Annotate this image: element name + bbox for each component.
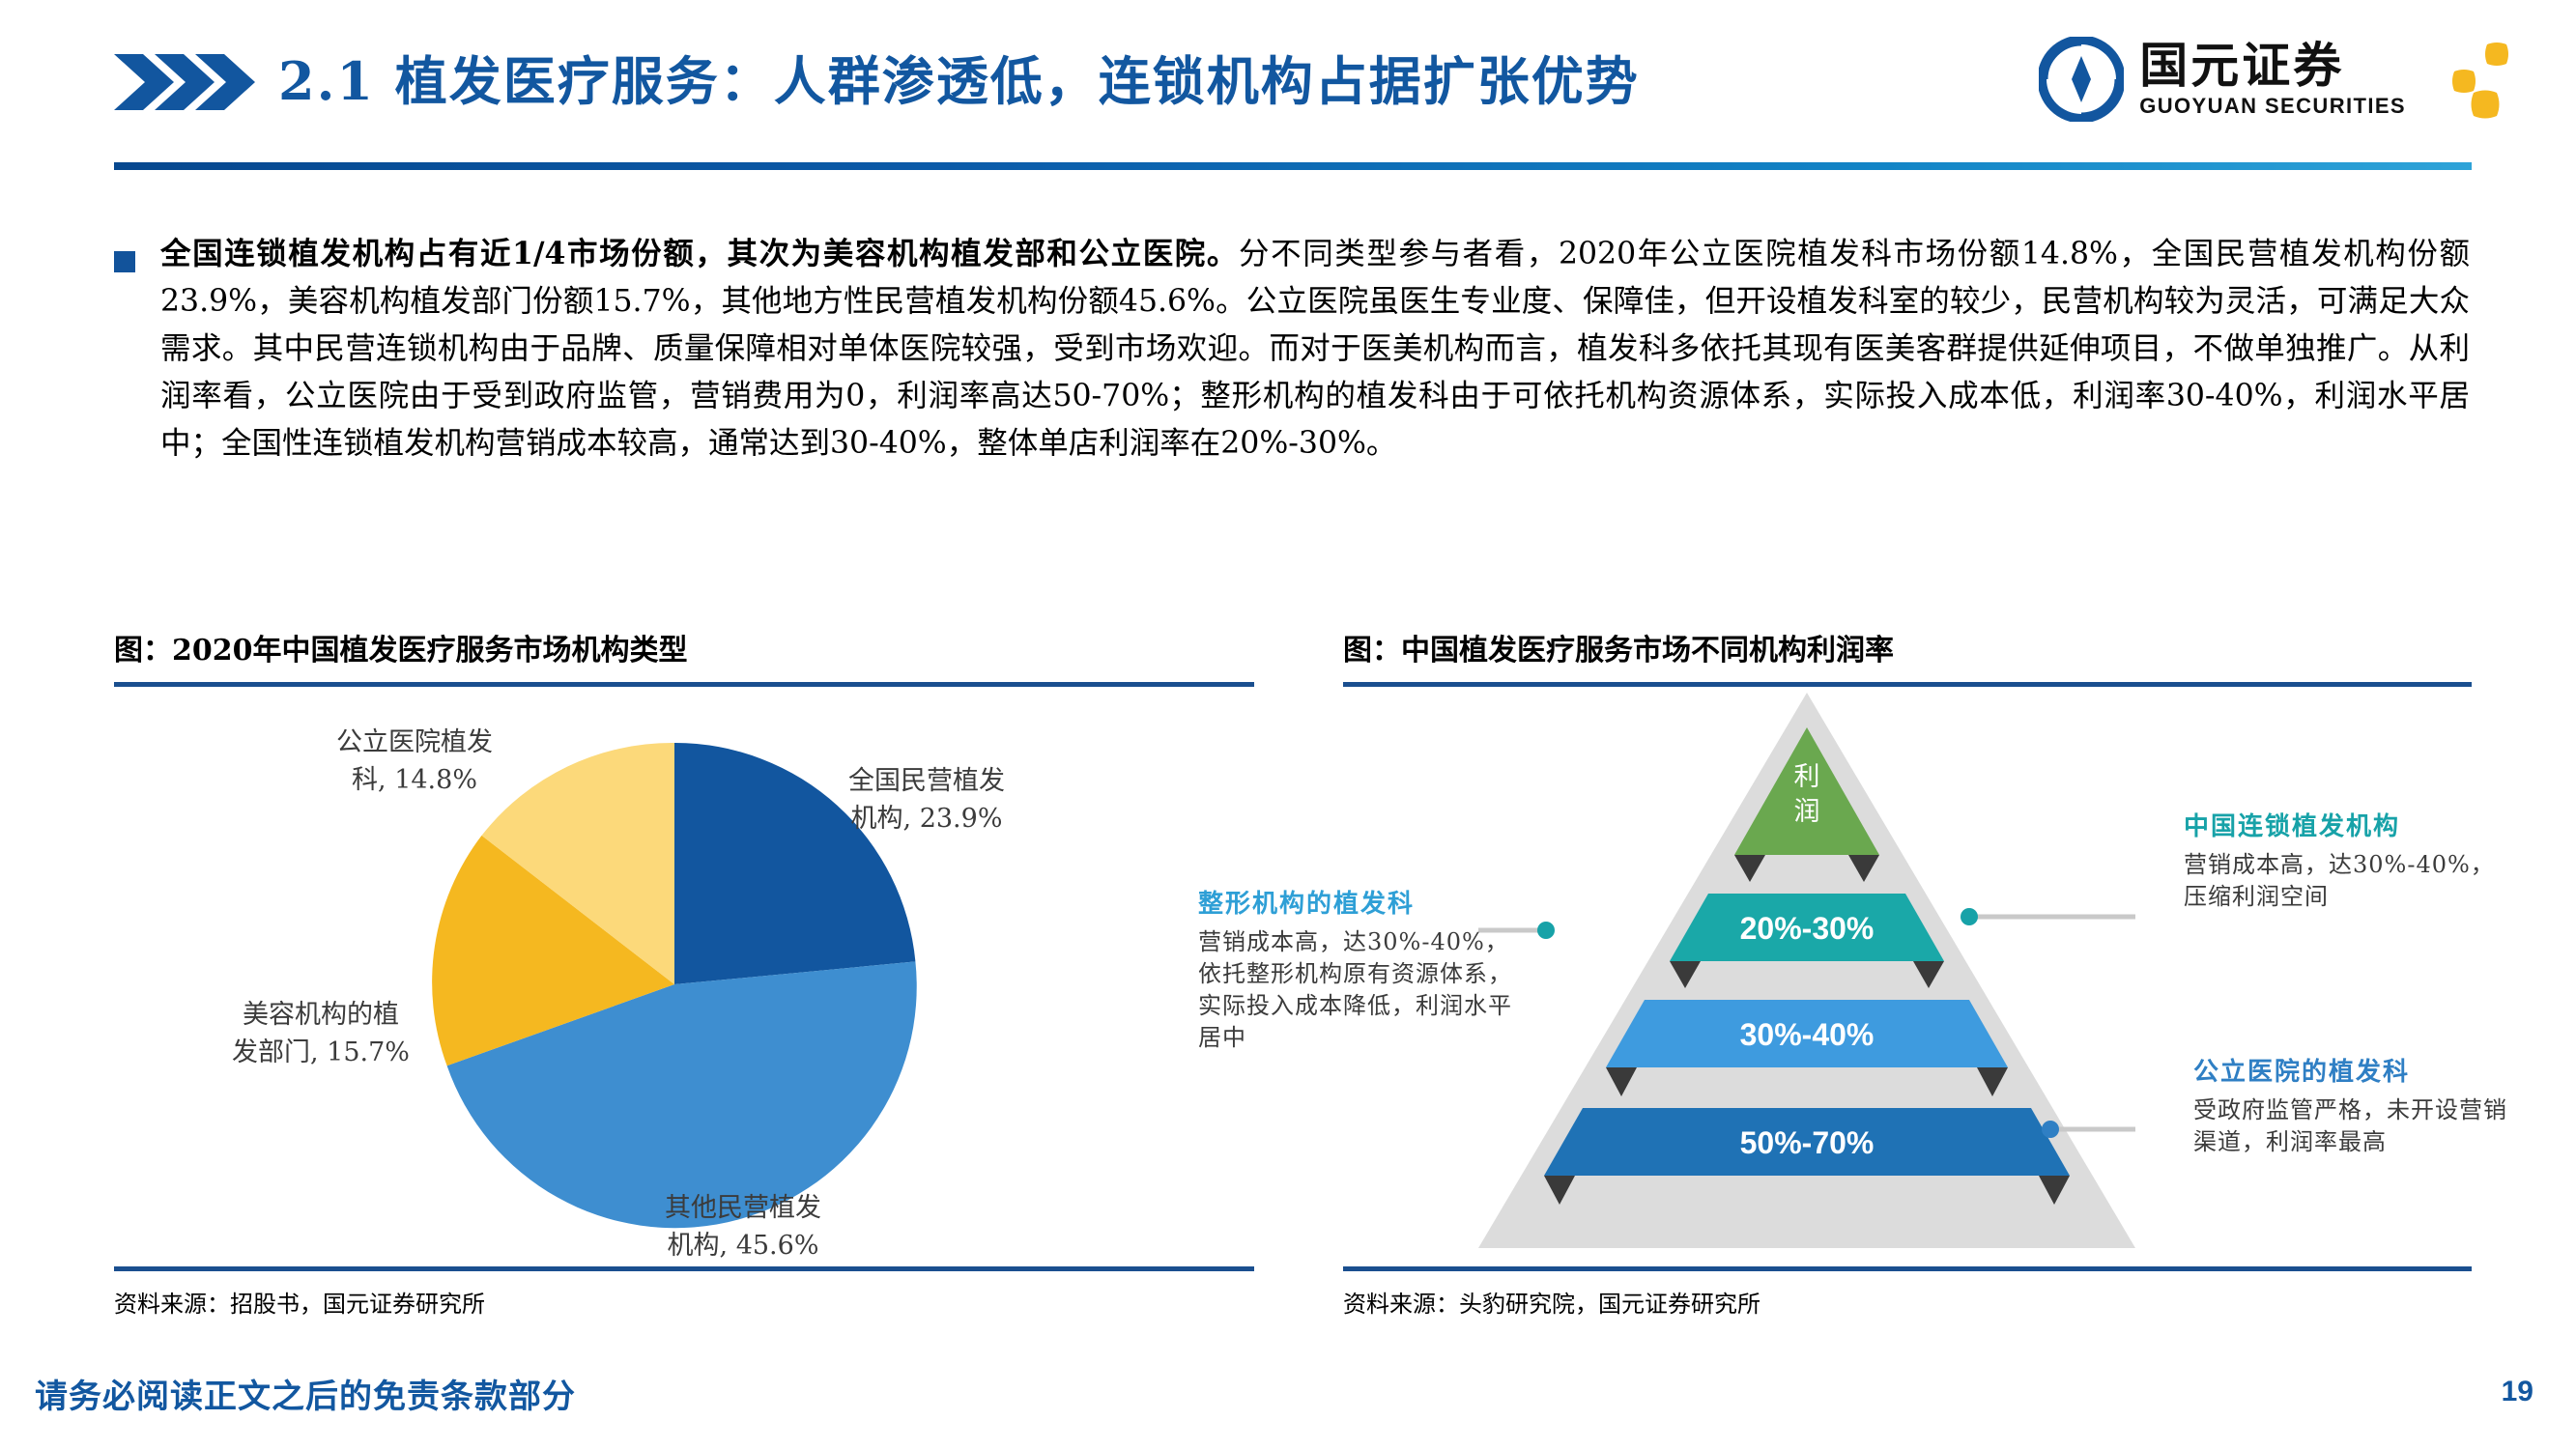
logo-name-cn: 国元证券 bbox=[2139, 42, 2406, 90]
annotation-chain-body: 营销成本高，达30%-40%，压缩利润空间 bbox=[2184, 849, 2503, 913]
svg-text:润: 润 bbox=[1794, 797, 1820, 827]
pie-label-other-private: 其他民营植发机构, 45.6% bbox=[665, 1189, 821, 1264]
annotation-chain-clinic: 中国连锁植发机构 营销成本高，达30%-40%，压缩利润空间 bbox=[2184, 810, 2503, 913]
guoyuan-circle-logo-icon bbox=[2039, 37, 2124, 122]
slide-header: 2.1 植发医疗服务：人群渗透低，连锁机构占据扩张优势 国元证券 GUOYUAN… bbox=[0, 0, 2576, 174]
annotation-public-hospital: 公立医院的植发科 受政府监管严格，未开设营销渠道，利润率最高 bbox=[2193, 1056, 2512, 1158]
chart-source-pyramid: 资料来源：头豹研究院，国元证券研究所 bbox=[1343, 1285, 2472, 1319]
header-divider bbox=[114, 162, 2472, 170]
footer-disclaimer: 请务必阅读正文之后的免责条款部分 bbox=[35, 1370, 576, 1417]
annotation-chain-title: 中国连锁植发机构 bbox=[2184, 810, 2503, 843]
three-yellow-diamonds-icon bbox=[2427, 37, 2520, 122]
logo-name-en: GUOYUAN SECURITIES bbox=[2139, 96, 2406, 117]
chart-title-pyramid: 图：中国植发医疗服务市场不同机构利润率 bbox=[1343, 626, 2472, 668]
panel-bottom-divider bbox=[114, 1266, 1254, 1271]
body-lead: 全国连锁植发机构占有近1/4市场份额，其次为美容机构植发部和公立医院。 bbox=[160, 236, 1239, 271]
svg-text:50%-70%: 50%-70% bbox=[1740, 1125, 1875, 1160]
company-logo: 国元证券 GUOYUAN SECURITIES bbox=[2039, 33, 2520, 126]
chart-panel-left: 图：2020年中国植发医疗服务市场机构类型 公立医院植发科, 14.8% 全国民… bbox=[114, 626, 1254, 1319]
pie-label-national-private: 全国民营植发机构, 23.9% bbox=[848, 762, 1005, 838]
chart-title-pie: 图：2020年中国植发医疗服务市场机构类型 bbox=[114, 626, 1254, 668]
panel-bottom-divider bbox=[1343, 1266, 2472, 1271]
square-bullet-icon bbox=[114, 251, 135, 272]
svg-text:20%-30%: 20%-30% bbox=[1740, 911, 1875, 946]
annotation-public-body: 受政府监管严格，未开设营销渠道，利润率最高 bbox=[2193, 1094, 2512, 1158]
body-bullet-block: 全国连锁植发机构占有近1/4市场份额，其次为美容机构植发部和公立医院。分不同类型… bbox=[114, 230, 2472, 468]
pie-chart-area: 公立医院植发科, 14.8% 全国民营植发机构, 23.9% 美容机构的植发部门… bbox=[114, 687, 1254, 1266]
chart-panel-right: 图：中国植发医疗服务市场不同机构利润率 bbox=[1343, 626, 2472, 1319]
annotation-plastic-title: 整形机构的植发科 bbox=[1198, 888, 1517, 921]
body-paragraph: 全国连锁植发机构占有近1/4市场份额，其次为美容机构植发部和公立医院。分不同类型… bbox=[160, 230, 2470, 468]
annotation-plastic-surgery: 整形机构的植发科 营销成本高，达30%-40%，依托整形机构原有资源体系，实际投… bbox=[1198, 888, 1517, 1054]
slide-root: 2.1 植发医疗服务：人群渗透低，连锁机构占据扩张优势 国元证券 GUOYUAN… bbox=[0, 0, 2576, 1449]
svg-text:利: 利 bbox=[1794, 762, 1820, 792]
pyramid-chart: 利 润 20%-30% 30%-40% 50%-70% bbox=[1478, 693, 2135, 1263]
page-title: 2.1 植发医疗服务：人群渗透低，连锁机构占据扩张优势 bbox=[278, 39, 1640, 115]
svg-text:30%-40%: 30%-40% bbox=[1740, 1017, 1875, 1052]
annotation-public-title: 公立医院的植发科 bbox=[2193, 1056, 2512, 1089]
triple-chevron-right-icon bbox=[114, 50, 269, 114]
footer-page-number: 19 bbox=[2502, 1376, 2533, 1408]
pyramid-chart-area: 利 润 20%-30% 30%-40% 50%-70% bbox=[1343, 687, 2472, 1266]
pie-label-beauty-clinic: 美容机构的植发部门, 15.7% bbox=[232, 996, 410, 1071]
annotation-plastic-body: 营销成本高，达30%-40%，依托整形机构原有资源体系，实际投入成本降低，利润水… bbox=[1198, 926, 1517, 1054]
chart-source-pie: 资料来源：招股书，国元证券研究所 bbox=[114, 1285, 1254, 1319]
pie-label-public-hospital: 公立医院植发科, 14.8% bbox=[336, 724, 493, 799]
